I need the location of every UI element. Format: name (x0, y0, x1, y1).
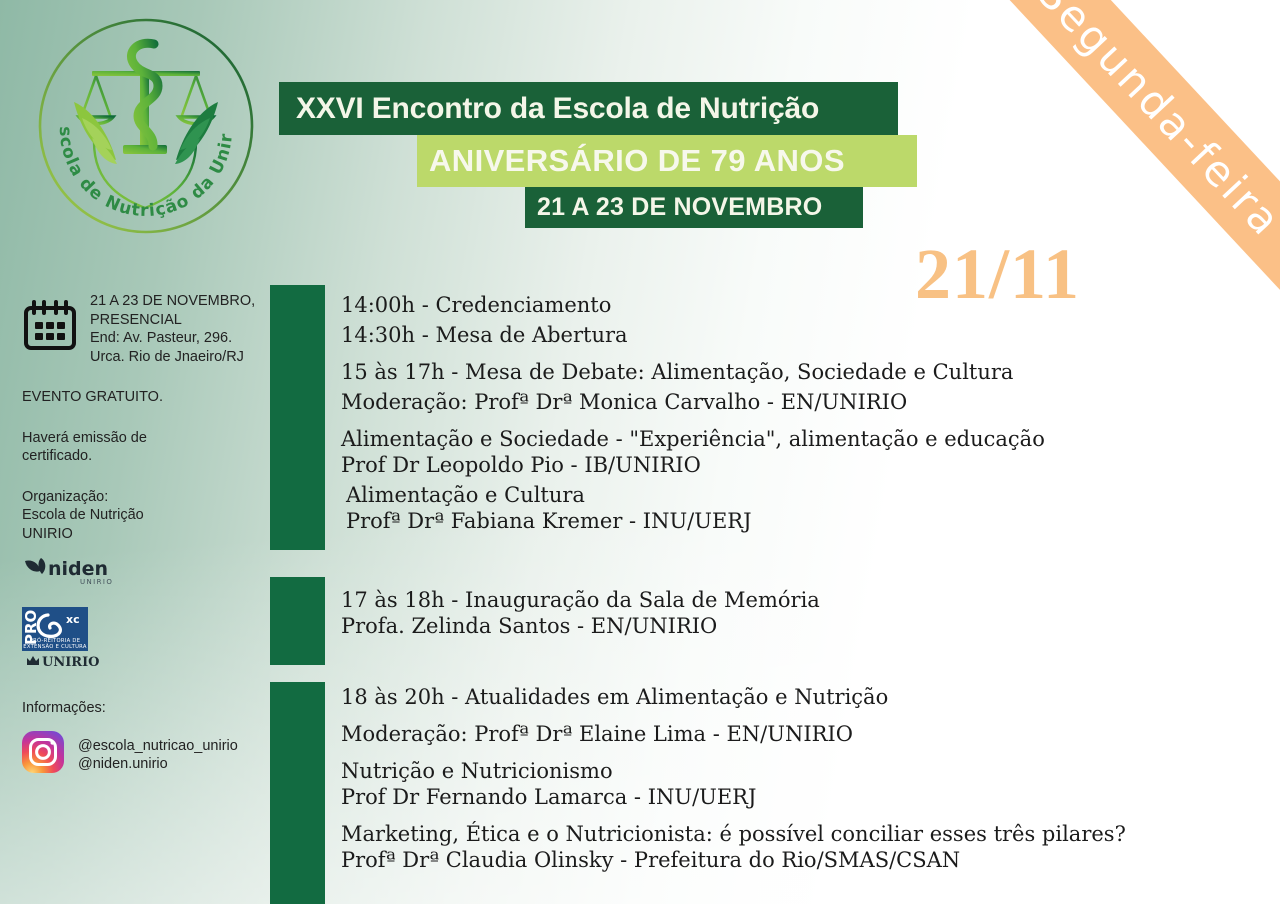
organization-note: Organização: Escola de Nutrição UNIRIO (22, 488, 258, 544)
instagram-block[interactable]: @escola_nutricao_unirio @niden.unirio (22, 731, 258, 779)
program-line: Profa. Zelinda Santos - EN/UNIRIO (341, 616, 820, 637)
proexc-caption-1: PRÓ-REITORIA DE (30, 637, 81, 644)
address-text: 21 A 23 DE NOVEMBRO, PRESENCIAL End: Av.… (90, 292, 255, 366)
instagram-handles: @escola_nutricao_unirio @niden.unirio (78, 737, 238, 773)
niden-logo: niden UNIRIO (22, 555, 258, 593)
information-label: Informações: (22, 699, 258, 718)
organization-line-2: Escola de Nutrição (22, 506, 258, 525)
title-banner-primary: XXVI Encontro da Escola de Nutrição (279, 82, 898, 135)
program-line: Profª Drª Claudia Olinsky - Prefeitura d… (341, 850, 1126, 871)
program-line: Prof Dr Leopoldo Pio - IB/UNIRIO (341, 455, 1045, 476)
instagram-handle-2: @niden.unirio (78, 755, 238, 773)
section-bar-2 (270, 577, 325, 665)
address-block: 21 A 23 DE NOVEMBRO, PRESENCIAL End: Av.… (22, 292, 258, 366)
escola-nutricao-logo: Escola de Nutrição da Unirio (34, 14, 258, 238)
sidebar-info: 21 A 23 DE NOVEMBRO, PRESENCIAL End: Av.… (22, 292, 258, 779)
program-line: Prof Dr Fernando Lamarca - INU/UERJ (341, 787, 1126, 808)
address-line-3: End: Av. Pasteur, 296. (90, 329, 255, 348)
program-line: Moderação: Profª Drª Elaine Lima - EN/UN… (341, 724, 1126, 745)
calendar-icon (22, 298, 78, 358)
weekday-label: Segunda-feira (1028, 0, 1280, 246)
title-line-2: ANIVERSÁRIO DE 79 ANOS (429, 143, 845, 179)
section-bar-3 (270, 682, 325, 904)
certificate-note: Haverá emissão de certificado. (22, 429, 258, 466)
address-line-4: Urca. Rio de Jnaeiro/RJ (90, 348, 255, 367)
title-line-3: 21 A 23 DE NOVEMBRO (537, 193, 822, 222)
program-line: 14:30h - Mesa de Abertura (341, 325, 1045, 346)
event-poster: Segunda-feira (0, 0, 1280, 904)
unirio-crown-icon (27, 656, 39, 665)
instagram-handle-1: @escola_nutricao_unirio (78, 737, 238, 755)
title-banner-anniversary: ANIVERSÁRIO DE 79 ANOS (417, 135, 917, 187)
certificate-line-2: certificado. (22, 447, 258, 466)
proexc-unirio-text: UNIRIO (42, 655, 100, 669)
program-line: Nutrição e Nutricionismo (341, 761, 1126, 782)
proexc-caption-2: EXTENSÃO E CULTURA (23, 643, 87, 650)
program-line: Alimentação e Cultura (341, 485, 1045, 506)
instagram-icon[interactable] (22, 731, 64, 779)
niden-subtitle: UNIRIO (80, 578, 113, 586)
program-line: Profª Drª Fabiana Kremer - INU/UERJ (341, 511, 1045, 532)
free-event-note: EVENTO GRATUITO. (22, 388, 258, 407)
address-line-2: PRESENCIAL (90, 311, 255, 330)
proexc-logo: PRO xc PRÓ-REITORIA DE EXTENSÃO E CULTUR… (22, 607, 258, 675)
niden-leaf-icon (25, 558, 45, 574)
program-line: 18 às 20h - Atualidades em Alimentação e… (341, 687, 1126, 708)
organization-line-1: Organização: (22, 488, 258, 507)
niden-wordmark: niden (48, 558, 108, 580)
address-line-1: 21 A 23 DE NOVEMBRO, (90, 292, 255, 311)
program-line: Alimentação e Sociedade - "Experiência",… (341, 429, 1045, 450)
program-line: 17 às 18h - Inauguração da Sala de Memór… (341, 590, 820, 611)
program-line: 14:00h - Credenciamento (341, 295, 1045, 316)
title-line-1: XXVI Encontro da Escola de Nutrição (296, 92, 819, 126)
organization-line-3: UNIRIO (22, 525, 258, 544)
program-line: Moderação: Profª Drª Monica Carvalho - E… (341, 392, 1045, 413)
title-banner-dates: 21 A 23 DE NOVEMBRO (525, 187, 863, 228)
section-bar-1 (270, 285, 325, 550)
program-block-2: 17 às 18h - Inauguração da Sala de Memór… (341, 590, 820, 651)
program-block-1: 14:00h - Credenciamento 14:30h - Mesa de… (341, 295, 1045, 546)
program-line: 15 às 17h - Mesa de Debate: Alimentação,… (341, 362, 1045, 383)
proexc-xc-text: xc (66, 613, 80, 626)
program-line: Marketing, Ética e o Nutricionista: é po… (341, 824, 1126, 845)
certificate-line-1: Haverá emissão de (22, 429, 258, 448)
program-block-3: 18 às 20h - Atualidades em Alimentação e… (341, 687, 1126, 885)
